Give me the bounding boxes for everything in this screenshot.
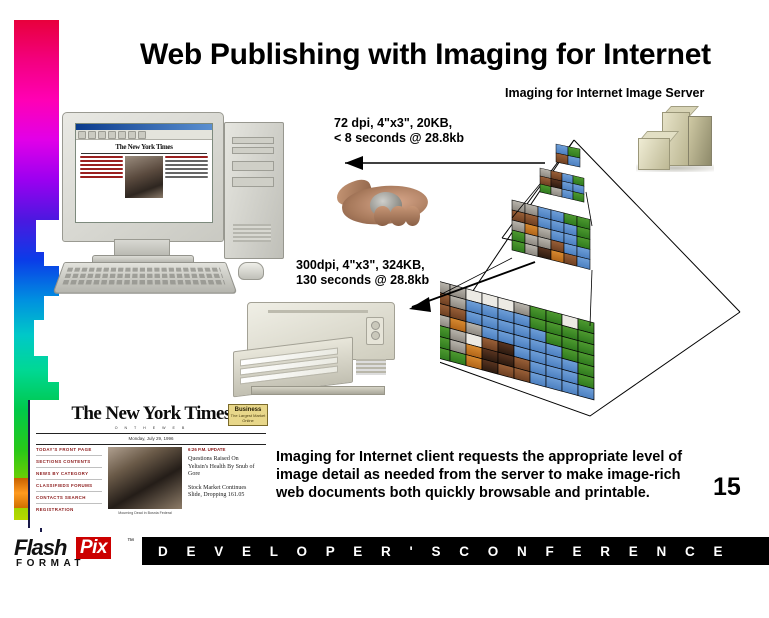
hand-finger [374, 206, 391, 226]
hand-finger [405, 206, 420, 226]
newspaper-printout: Business The Largest Market Online The N… [28, 400, 272, 528]
business-badge-sub: The Largest Market Online [229, 413, 267, 423]
divider [36, 433, 266, 434]
nyt-nav-link[interactable]: NEWS BY CATEGORY [36, 471, 102, 476]
divider [36, 503, 102, 504]
slide-canvas: Web Publishing with Imaging for Internet… [0, 0, 769, 618]
pyramid-level-4 [440, 280, 594, 400]
nyt-nav-link[interactable]: TODAY'S FRONT PAGE [36, 447, 102, 452]
nyt-headline[interactable]: Stock Market Continues Slide, Dropping 1… [188, 485, 256, 500]
flashpix-logo-pix: Pix [76, 537, 111, 559]
divider [36, 467, 102, 468]
printer-resume-button[interactable] [371, 331, 380, 340]
printer-vent [356, 359, 386, 375]
inkjet-printer [233, 300, 395, 396]
hand-holding-mouse-photo [334, 172, 436, 234]
printer-power-button[interactable] [371, 321, 380, 330]
forward-button-mini[interactable] [88, 131, 96, 139]
page-title: Web Publishing with Imaging for Internet [140, 38, 740, 72]
computer-tower-icon [224, 122, 284, 259]
nyt-nav-link[interactable]: REGISTRATION [36, 507, 102, 512]
desktop-computer: The New York Times [62, 112, 294, 287]
printer-control-panel [366, 317, 384, 345]
pyramid-level-2 [540, 168, 584, 202]
divider [81, 153, 207, 154]
printer-lid-seam [268, 310, 368, 313]
divider [36, 491, 102, 492]
nyt-nav-link[interactable]: CLASSIFIEDS FORUMS [36, 483, 102, 488]
gradient-notch [44, 252, 60, 266]
pyramid-level-1 [556, 144, 580, 167]
printer-base [251, 386, 385, 395]
mouse [238, 262, 264, 280]
flashpix-logo-format: FORMAT [16, 558, 85, 569]
trademark-icon: ™ [127, 538, 134, 545]
nyt-headline-column: 6:26 P.M. UPDATE Questions Raised On Yel… [188, 447, 256, 515]
image-server-label: Imaging for Internet Image Server [505, 86, 704, 100]
keyboard [52, 262, 237, 294]
gradient-notch [48, 356, 60, 382]
nyt-nav-link[interactable]: SECTIONS CONTENTS [36, 459, 102, 464]
slide-body-text: Imaging for Internet client requests the… [276, 448, 706, 502]
annotation-high-res: 300dpi, 4"x3", 324KB, 130 seconds @ 28.8… [296, 258, 429, 288]
nyt-nav-column-mini [80, 156, 123, 198]
gradient-notch [36, 220, 60, 252]
reload-button-mini[interactable] [108, 131, 116, 139]
nyt-update-label: 6:26 P.M. UPDATE [188, 447, 256, 452]
gradient-notch [44, 296, 60, 320]
nyt-photo-mini [125, 156, 163, 198]
browser-window-mini: The New York Times [76, 124, 212, 222]
business-badge: Business The Largest Market Online [228, 404, 268, 426]
flashpix-image-resolution-pyramid [440, 130, 760, 420]
nyt-columns-mini [76, 156, 212, 198]
divider [36, 479, 102, 480]
slide-footer: Flash Pix ™ FORMAT D E V E L O P E R ' S… [14, 536, 754, 570]
slide-number: 15 [713, 473, 741, 502]
annotation-high-res-line2: 130 seconds @ 28.8kb [296, 273, 429, 288]
nyt-date: Monday, July 29, 1996 [30, 436, 272, 441]
flashpix-logo: Flash Pix ™ FORMAT [14, 536, 134, 570]
conference-banner: D E V E L O P E R ' S C O N F E R E N C … [142, 537, 769, 565]
print-button-mini[interactable] [128, 131, 136, 139]
divider [36, 444, 266, 445]
annotation-low-res: 72 dpi, 4"x3", 20KB, < 8 seconds @ 28.8k… [334, 116, 464, 146]
annotation-low-res-line1: 72 dpi, 4"x3", 20KB, [334, 116, 464, 131]
back-button-mini[interactable] [78, 131, 86, 139]
nyt-headline[interactable]: Questions Raised On Yeltsin's Health By … [188, 456, 256, 479]
nyt-photo-block: Mourning Dead in Bosnia Federal [108, 447, 182, 515]
nyt-nav-column: TODAY'S FRONT PAGE SECTIONS CONTENTS NEW… [36, 447, 102, 515]
browser-toolbar [76, 130, 212, 140]
nyt-nav-link[interactable]: CONTACTS SEARCH [36, 495, 102, 500]
pyramid-svg [440, 130, 760, 420]
search-button-mini[interactable] [118, 131, 126, 139]
pyramid-level-3 [512, 200, 590, 269]
divider [36, 455, 102, 456]
annotation-low-res-line2: < 8 seconds @ 28.8kb [334, 131, 464, 146]
home-button-mini[interactable] [98, 131, 106, 139]
nyt-headline-column-mini [165, 156, 208, 198]
nyt-photo [108, 447, 182, 509]
nyt-columns: TODAY'S FRONT PAGE SECTIONS CONTENTS NEW… [30, 447, 272, 515]
annotation-high-res-line1: 300dpi, 4"x3", 324KB, [296, 258, 429, 273]
monitor-screen: The New York Times [75, 123, 213, 223]
gradient-notch [34, 320, 60, 356]
nyt-photo-caption: Mourning Dead in Bosnia Federal [108, 511, 182, 515]
nyt-masthead-mini: The New York Times [76, 143, 212, 151]
crt-monitor: The New York Times [62, 112, 224, 242]
stop-button-mini[interactable] [138, 131, 146, 139]
nyt-masthead-sub: O N T H E W E B [30, 426, 272, 430]
